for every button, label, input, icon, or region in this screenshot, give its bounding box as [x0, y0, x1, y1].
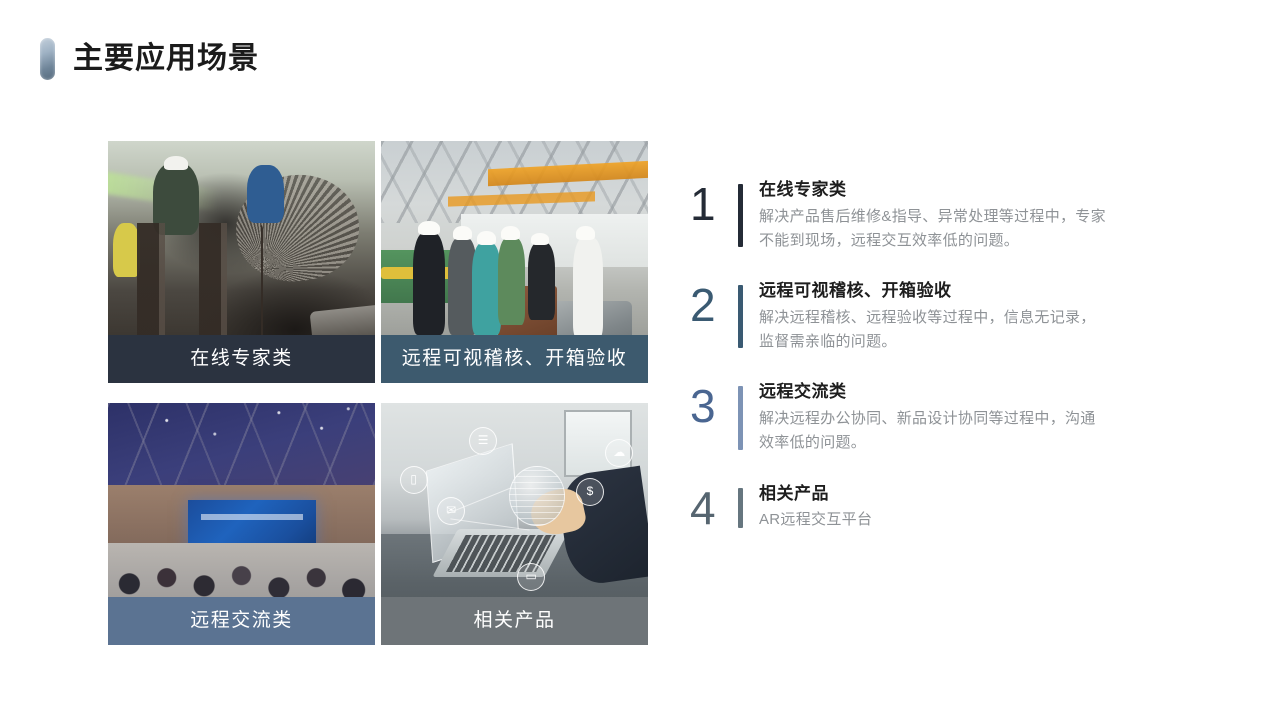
worker-figure — [247, 165, 284, 223]
feature-number: 2 — [684, 279, 738, 331]
worker-figure — [413, 233, 445, 335]
feature-text-block: 在线专家类 解决产品售后维修&指导、异常处理等过程中，专家 不能到现场，远程交互… — [759, 178, 1224, 253]
feature-text-block: 远程可视稽核、开箱验收 解决远程稽核、远程验收等过程中，信息无记录， 监督需亲临… — [759, 279, 1224, 354]
feature-text-block: 远程交流类 解决远程办公协同、新品设计协同等过程中，沟通 效率低的问题。 — [759, 380, 1224, 455]
feature-list: 1 在线专家类 解决产品售后维修&指导、异常处理等过程中，专家 不能到现场，远程… — [684, 178, 1224, 560]
gallery-item-online-expert[interactable]: 在线专家类 — [108, 141, 375, 383]
scenario-image-grid: 在线专家类 远程可视稽核、开箱验收 — [108, 141, 648, 645]
feature-accent-bar — [738, 386, 743, 449]
feature-title: 远程可视稽核、开箱验收 — [759, 279, 1224, 304]
feature-item-4[interactable]: 4 相关产品 AR远程交互平台 — [684, 482, 1224, 534]
page-title: 主要应用场景 — [73, 44, 259, 74]
feature-number: 4 — [684, 482, 738, 534]
hard-hat — [418, 221, 439, 236]
feature-description: 解决远程稽核、远程验收等过程中，信息无记录， 监督需亲临的问题。 — [759, 306, 1224, 355]
feature-accent-bar — [738, 488, 743, 528]
feature-item-1[interactable]: 1 在线专家类 解决产品售后维修&指导、异常处理等过程中，专家 不能到现场，远程… — [684, 178, 1224, 253]
hard-hat — [164, 156, 188, 171]
worker-figure — [528, 243, 555, 320]
hard-hat — [477, 231, 496, 246]
phone-icon: ▯ — [400, 466, 428, 494]
feature-accent-bar — [738, 285, 743, 348]
gallery-caption: 在线专家类 — [108, 335, 375, 383]
feature-title: 相关产品 — [759, 482, 1224, 507]
worker-figure — [498, 238, 525, 325]
gallery-item-remote-communication[interactable]: 远程交流类 — [108, 403, 375, 645]
hard-hat — [576, 226, 595, 241]
globe-hologram — [509, 466, 564, 526]
gallery-caption: 相关产品 — [381, 597, 648, 645]
feature-description: AR远程交互平台 — [759, 508, 1224, 532]
feature-item-2[interactable]: 2 远程可视稽核、开箱验收 解决远程稽核、远程验收等过程中，信息无记录， 监督需… — [684, 279, 1224, 354]
feature-accent-bar — [738, 184, 743, 247]
worker-figure — [573, 238, 602, 340]
worker-figure — [113, 223, 140, 276]
feature-description: 解决远程办公协同、新品设计协同等过程中，沟通 效率低的问题。 — [759, 407, 1224, 456]
dollar-icon: $ — [576, 478, 604, 506]
feature-number: 1 — [684, 178, 738, 230]
feature-text-block: 相关产品 AR远程交互平台 — [759, 482, 1224, 533]
feature-item-3[interactable]: 3 远程交流类 解决远程办公协同、新品设计协同等过程中，沟通 效率低的问题。 — [684, 380, 1224, 455]
gallery-item-related-product[interactable]: ☰ ☁ ▯ ✉ $ ▭ 相关产品 — [381, 403, 648, 645]
feature-description: 解决产品售后维修&指导、异常处理等过程中，专家 不能到现场，远程交互效率低的问题… — [759, 205, 1224, 254]
gallery-caption: 远程可视稽核、开箱验收 — [381, 335, 648, 383]
worker-figure — [153, 163, 198, 236]
hard-hat — [453, 226, 472, 241]
monitor-icon: ▭ — [517, 563, 545, 591]
slide-header: 主要应用场景 — [40, 38, 259, 80]
feature-title: 在线专家类 — [759, 178, 1224, 203]
worker-figure — [472, 243, 501, 335]
feature-number: 3 — [684, 380, 738, 432]
hard-hat — [501, 226, 520, 241]
title-marker-icon — [40, 38, 55, 80]
gallery-item-remote-audit[interactable]: 远程可视稽核、开箱验收 — [381, 141, 648, 383]
feature-title: 远程交流类 — [759, 380, 1224, 405]
hard-hat — [531, 233, 550, 245]
gallery-caption: 远程交流类 — [108, 597, 375, 645]
